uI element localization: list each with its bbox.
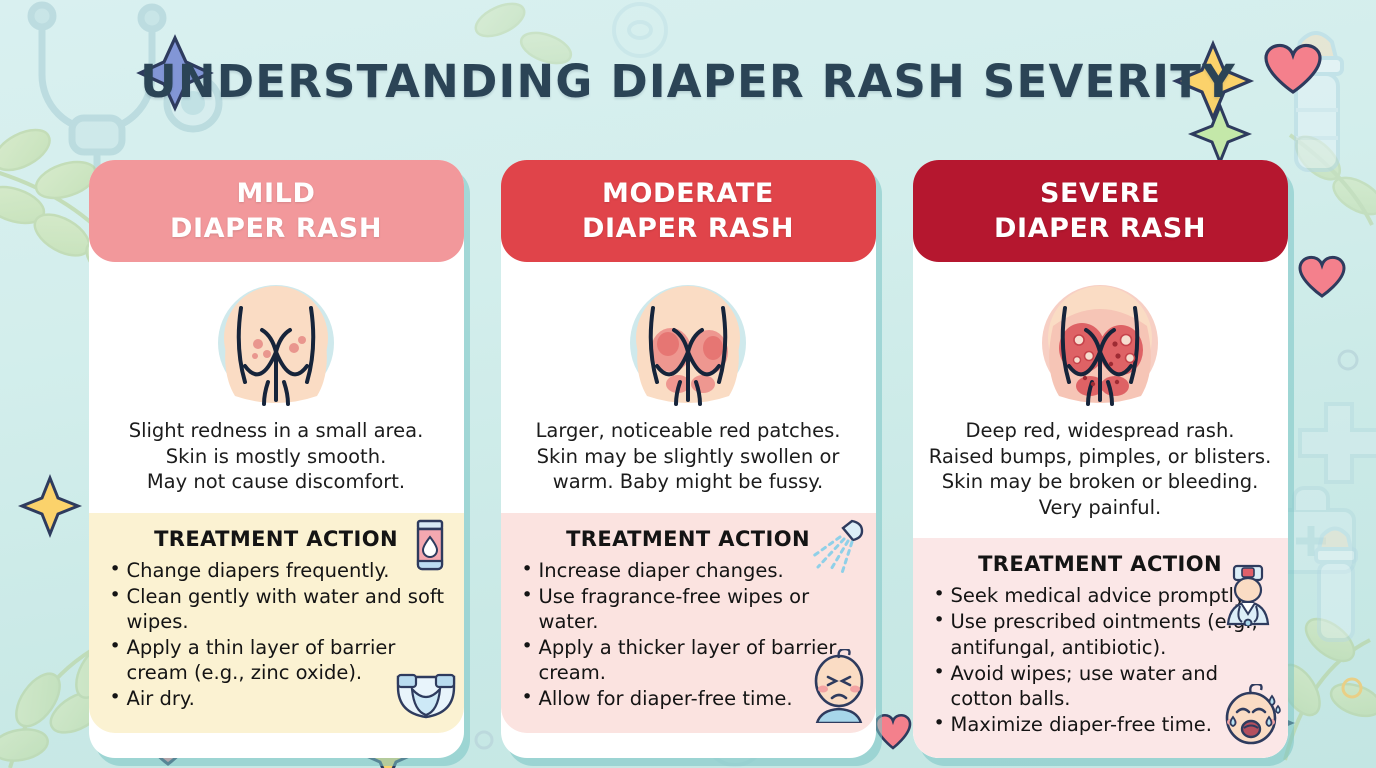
desc-line: Deep red, widespread rash. <box>929 418 1272 444</box>
card-header-line1: MILD <box>99 177 454 212</box>
fussy-baby-face-icon <box>808 649 870 727</box>
card-header-line1: SEVERE <box>923 177 1278 212</box>
star-four-point-icon <box>1192 106 1248 162</box>
treatment-section-severe: TREATMENT ACTION Seek medical advice pro… <box>913 538 1288 758</box>
desc-line: Skin may be broken or bleeding. <box>929 469 1272 495</box>
card-header-moderate: MODERATE DIAPER RASH <box>501 160 876 262</box>
shower-spray-icon <box>808 517 866 579</box>
treatment-title: TREATMENT ACTION <box>107 527 446 551</box>
card-header-severe: SEVERE DIAPER RASH <box>913 160 1288 262</box>
infographic-canvas: UNDERSTANDING DIAPER RASH SEVERITY MILD … <box>0 0 1376 768</box>
desc-line: May not cause discomfort. <box>105 469 448 495</box>
treatment-section-moderate: TREATMENT ACTION Increase diaper changes… <box>501 513 876 733</box>
desc-line: Skin is mostly smooth. <box>105 444 448 470</box>
card-moderate: MODERATE DIAPER RASH <box>501 160 876 758</box>
treatment-item: Use prescribed ointments (e.g., antifung… <box>931 609 1270 659</box>
diaper-icon <box>394 671 458 723</box>
severity-cards-row: MILD DIAPER RASH <box>0 160 1376 758</box>
desc-line: Slight redness in a small area. <box>105 418 448 444</box>
cream-tube-icon <box>410 519 450 583</box>
treatment-section-mild: TREATMENT ACTION Change diapers frequent… <box>89 513 464 733</box>
doctor-icon <box>1222 564 1274 630</box>
desc-line: Raised bumps, pimples, or blisters. <box>929 444 1272 470</box>
card-body-mild: Slight redness in a small area. Skin is … <box>89 248 464 732</box>
treatment-item: Change diapers frequently. <box>107 558 446 583</box>
pacifier-icon <box>614 4 666 56</box>
desc-line: warm. Baby might be fussy. <box>517 469 860 495</box>
card-header-mild: MILD DIAPER RASH <box>89 160 464 262</box>
card-description-moderate: Larger, noticeable red patches. Skin may… <box>501 418 876 513</box>
card-header-line2: DIAPER RASH <box>511 212 866 247</box>
card-body-severe: Deep red, widespread rash. Raised bumps,… <box>913 248 1288 758</box>
page-title: UNDERSTANDING DIAPER RASH SEVERITY <box>0 55 1376 108</box>
treatment-title: TREATMENT ACTION <box>931 552 1270 576</box>
moderate-rash-illustration <box>501 262 876 418</box>
card-body-moderate: Larger, noticeable red patches. Skin may… <box>501 248 876 732</box>
crying-baby-face-icon <box>1220 684 1282 750</box>
desc-line: Very painful. <box>929 495 1272 521</box>
card-header-line1: MODERATE <box>511 177 866 212</box>
card-mild: MILD DIAPER RASH <box>89 160 464 758</box>
treatment-item: Clean gently with water and soft wipes. <box>107 584 446 634</box>
treatment-item: Seek medical advice promptly. <box>931 583 1270 608</box>
card-header-line2: DIAPER RASH <box>99 212 454 247</box>
card-description-severe: Deep red, widespread rash. Raised bumps,… <box>913 418 1288 538</box>
treatment-item: Use fragrance-free wipes or water. <box>519 584 858 634</box>
mild-rash-illustration <box>89 262 464 418</box>
card-severe: SEVERE DIAPER RASH <box>913 160 1288 758</box>
desc-line: Larger, noticeable red patches. <box>517 418 860 444</box>
desc-line: Skin may be slightly swollen or <box>517 444 860 470</box>
card-description-mild: Slight redness in a small area. Skin is … <box>89 418 464 513</box>
severe-rash-illustration <box>913 262 1288 418</box>
card-header-line2: DIAPER RASH <box>923 212 1278 247</box>
